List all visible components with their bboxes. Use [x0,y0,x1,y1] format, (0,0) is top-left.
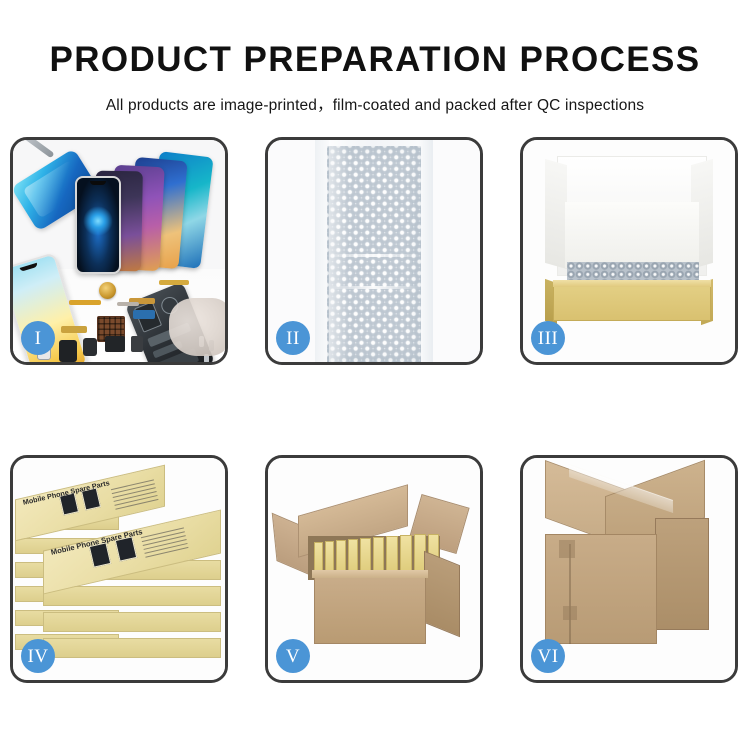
box-stack: Mobile Phone Spare Parts Mobile Phone Sp… [15,476,225,668]
small-module-3 [105,336,125,352]
connector-part [133,310,155,319]
wrap-highlight [329,140,349,362]
small-module-2 [83,338,97,356]
sealed-carton-right-side [655,518,709,630]
page-subtitle: All products are image-printed，film-coat… [0,93,750,115]
bubble-wrap-strip [315,140,433,362]
panel-step-1[interactable]: I [10,137,228,365]
flex-cable-4 [159,280,189,285]
carton-marking-lower [563,606,577,620]
page-title: PRODUCT PREPARATION PROCESS [0,42,750,77]
carton-right-side [424,551,460,638]
carton-front-face [314,574,426,644]
panel-step-5[interactable]: V [265,455,483,683]
inner-box-rim [553,280,711,287]
step-badge-4: IV [21,639,55,673]
step-badge-1: I [21,321,55,355]
copper-coil-part [99,282,116,299]
carton-marking-upper [559,540,575,558]
process-grid: I II [10,137,740,683]
step-badge-5: V [276,639,310,673]
sealed-carton-seam [569,544,571,644]
inner-box-front [553,285,711,321]
stacked-box-front-4 [43,638,221,658]
panel-step-6[interactable]: VI [520,455,738,683]
antenna-strip [117,302,139,306]
step-badge-2: II [276,321,310,355]
small-module-1 [59,340,77,362]
panel-step-4[interactable]: Mobile Phone Spare Parts Mobile Phone Sp… [10,455,228,683]
flex-cable-1 [69,300,101,305]
carton-top-rim [312,570,428,578]
stacked-box-front-3 [43,612,221,632]
header: PRODUCT PREPARATION PROCESS All products… [0,0,750,115]
foam-sheet [565,202,699,268]
step-badge-6: VI [531,639,565,673]
panel-step-2[interactable]: II [265,137,483,365]
phone-front-glass [75,176,121,274]
box-lid-left-flap [545,159,567,269]
flex-cable-3 [61,326,87,333]
small-module-4 [131,336,143,352]
technician-hand [169,298,225,356]
stacked-box-front-2 [43,586,221,606]
product-preparation-infographic: PRODUCT PREPARATION PROCESS All products… [0,0,750,750]
step-badge-3: III [531,321,565,355]
panel-step-3[interactable]: III [520,137,738,365]
